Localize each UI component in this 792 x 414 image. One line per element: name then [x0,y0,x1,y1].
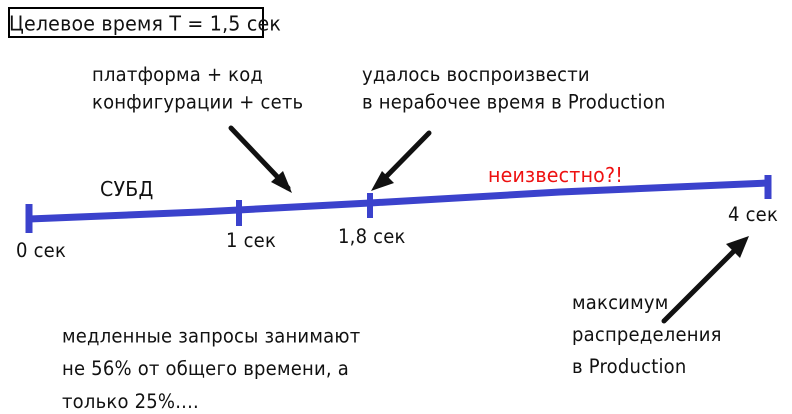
note-max-distribution: максимум распределения в Production [572,288,722,383]
note-slow-queries-line1: медленные запросы занимают [62,320,360,353]
axis-segment-label-dbms: СУБД [100,178,154,201]
note-slow-queries-line3: только 25%.... [62,386,360,414]
note-platform-code-line2: конфигурации + сеть [92,90,303,118]
target-time-label: Целевое время T = 1,5 сек [9,12,281,36]
arrow-reproduced [371,133,429,191]
note-platform-code-line1: платформа + код [92,62,303,90]
note-max-distribution-line3: в Production [572,352,722,384]
axis-label-18sec: 1,8 сек [338,226,406,248]
axis-label-0sec: 0 сек [16,240,66,262]
note-reproduced: удалось воспроизвести в нерабочее время … [362,62,666,117]
note-slow-queries: медленные запросы занимают не 56% от общ… [62,320,360,414]
axis-label-4sec: 4 сек [728,204,778,226]
note-platform-code: платформа + код конфигурации + сеть [92,62,303,117]
arrow-platform-code [231,128,292,193]
whiteboard-canvas: Целевое время T = 1,5 сек платформа + ко… [0,0,792,414]
note-reproduced-line1: удалось воспроизвести [362,62,666,90]
note-reproduced-line2: в нерабочее время в Production [362,90,666,118]
axis-label-1sec: 1 сек [226,230,276,252]
axis-label-unknown: неизвестно?! [488,164,623,187]
note-slow-queries-line2: не 56% от общего времени, а [62,353,360,386]
note-max-distribution-line1: максимум [572,288,722,320]
note-max-distribution-line2: распределения [572,320,722,352]
